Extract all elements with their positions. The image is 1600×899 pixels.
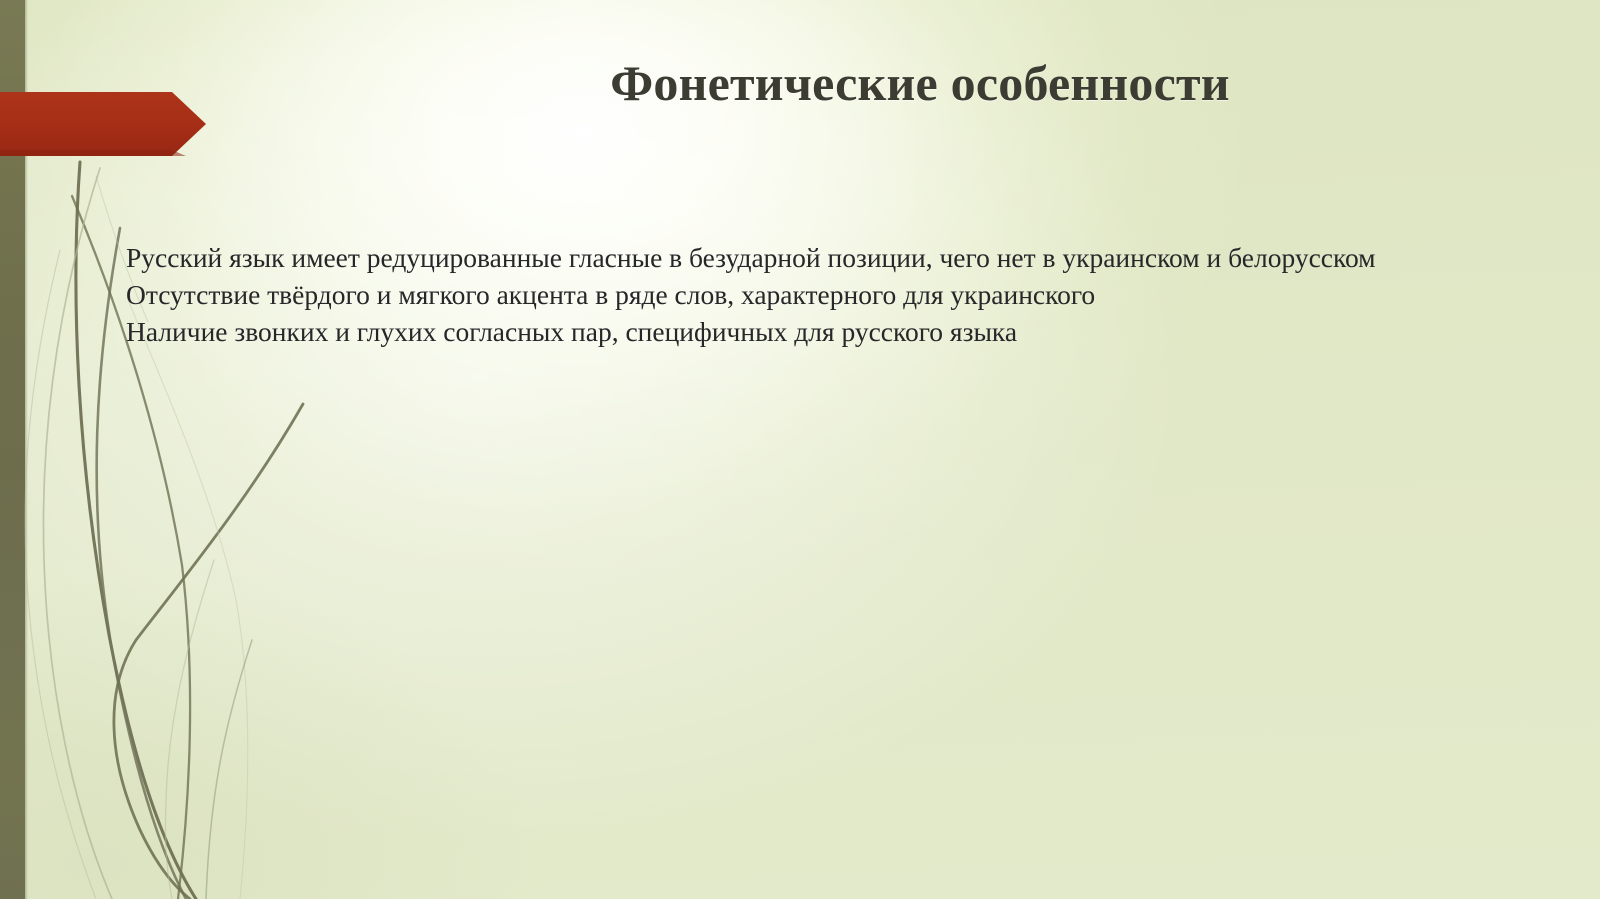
red-arrow-banner [0,92,206,156]
page-title: Фонетические особенности [300,54,1540,112]
body-paragraph-3: Наличие звонких и глухих согласных пар, … [126,314,1396,351]
body-paragraph-1: Русский язык имеет редуцированные гласны… [126,240,1396,277]
slide-background-tint [0,0,1600,899]
body-paragraph-2: Отсутствие твёрдого и мягкого акцента в … [126,277,1396,314]
slide-body: Русский язык имеет редуцированные гласны… [126,240,1396,351]
presentation-slide: Фонетические особенности Русский язык им… [0,0,1600,899]
